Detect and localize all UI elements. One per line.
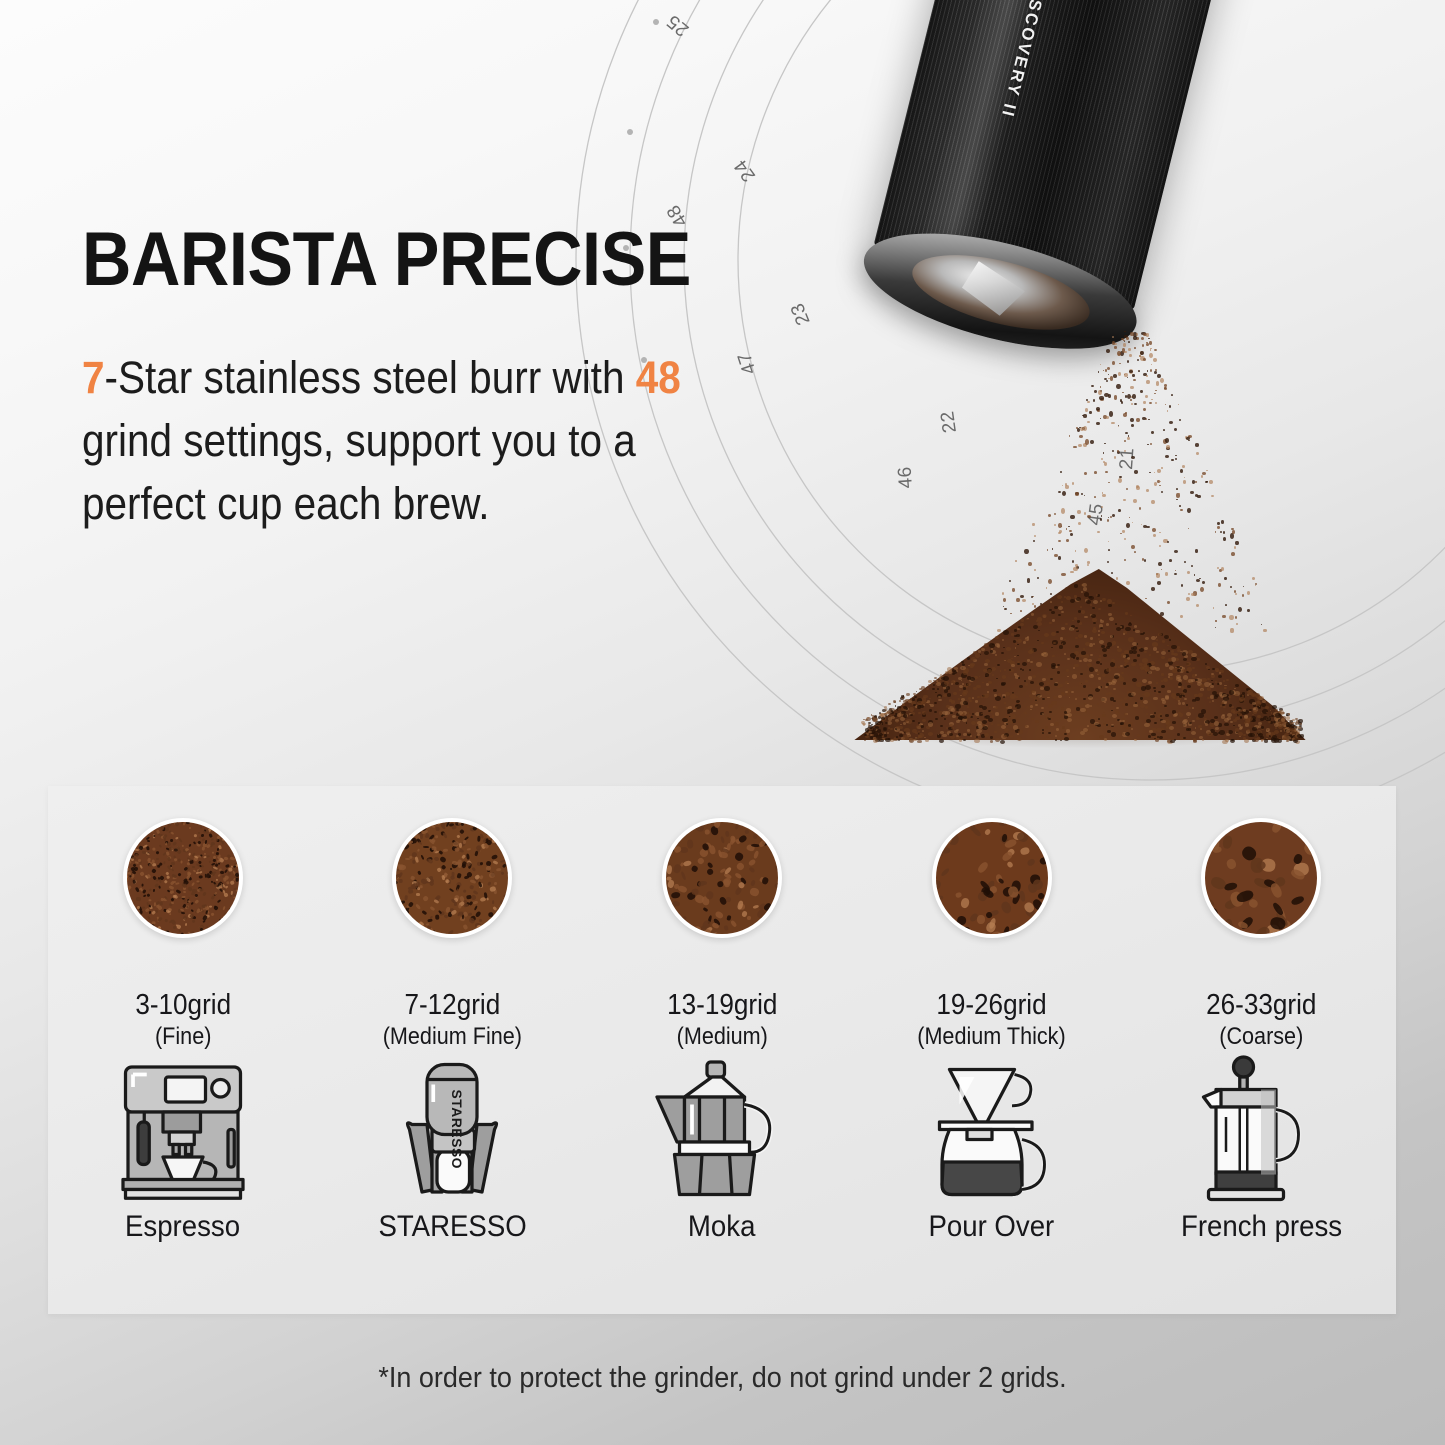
svg-text:25: 25 (663, 10, 693, 40)
pile-mound (845, 550, 1315, 740)
grind-swatch-column-4 (1126, 818, 1396, 938)
grind-labels-0: 3-10grid (Fine) (130, 988, 236, 1051)
svg-text:24: 24 (730, 155, 760, 185)
grind-column-1: 7-12grid (Medium Fine) (318, 966, 588, 1051)
grind-range-3: 19-26grid (917, 988, 1065, 1022)
grind-range-2: 13-19grid (667, 988, 777, 1022)
grind-swatch-0 (123, 818, 243, 938)
grind-swatch-column-2 (587, 818, 857, 938)
device-label-staresso: STARESSO (378, 1210, 526, 1244)
brew-device-row: Espresso STARESSO (48, 1052, 1396, 1244)
brew-column-frenchpress: French press (1126, 1052, 1396, 1244)
grind-column-4: 26-33grid (Coarse) (1126, 966, 1396, 1051)
grind-labels-2: 13-19grid (Medium) (661, 988, 784, 1051)
grind-range-4: 26-33grid (1206, 988, 1316, 1022)
brew-column-staresso: STARESSO STARESSO (318, 1052, 588, 1244)
pour-over-icon (917, 1052, 1067, 1202)
grind-swatch-row (48, 818, 1396, 938)
device-label-pourover: Pour Over (929, 1210, 1055, 1244)
coffee-grinder-product: DISCOVERY II (801, 0, 1354, 475)
grind-column-3: 19-26grid (Medium Thick) (857, 966, 1127, 1051)
grind-labels-4: 26-33grid (Coarse) (1200, 988, 1323, 1051)
grind-coarseness-1: (Medium Fine) (383, 1022, 522, 1051)
moka-pot-icon (647, 1052, 797, 1202)
grind-column-2: 13-19grid (Medium) (587, 966, 857, 1051)
grind-swatch-column-3 (857, 818, 1127, 938)
footnote-disclaimer: *In order to protect the grinder, do not… (51, 1362, 1395, 1395)
grind-range-1: 7-12grid (383, 988, 522, 1022)
subcopy-part-2: grind settings, support you to a perfect… (82, 415, 636, 529)
ground-coffee-pile (845, 520, 1315, 740)
product-infographic: 27 26 25 48 47 46 45 03 02 01 24 23 22 2… (0, 0, 1445, 1445)
subcopy-paragraph: 7-Star stainless steel burr with 48 grin… (82, 346, 703, 535)
device-label-espresso: Espresso (125, 1210, 240, 1244)
grind-swatch-column-0 (48, 818, 318, 938)
staresso-brand-text: STARESSO (449, 1090, 464, 1170)
grind-swatch-3 (932, 818, 1052, 938)
svg-text:23: 23 (787, 300, 815, 328)
grind-coarseness-4: (Coarse) (1206, 1022, 1316, 1051)
french-press-icon (1186, 1052, 1336, 1202)
device-label-frenchpress: French press (1181, 1210, 1342, 1244)
accent-seven: 7 (82, 352, 105, 403)
brew-column-espresso: Espresso (48, 1052, 318, 1244)
headline-block: BARISTA PRECISE 7-Star stainless steel b… (82, 222, 782, 535)
brew-column-pourover: Pour Over (857, 1052, 1127, 1244)
grind-swatch-2 (662, 818, 782, 938)
page-title: BARISTA PRECISE (82, 222, 712, 298)
staresso-maker-icon: STARESSO (377, 1052, 527, 1202)
grind-labels-3: 19-26grid (Medium Thick) (909, 988, 1074, 1051)
svg-text:22: 22 (937, 410, 961, 435)
subcopy-part-1: -Star stainless steel burr with (105, 352, 636, 403)
grind-swatch-1 (392, 818, 512, 938)
grind-label-row: 3-10grid (Fine) 7-12grid (Medium Fine) 1… (48, 966, 1396, 1051)
grind-labels-1: 7-12grid (Medium Fine) (375, 988, 530, 1051)
device-label-moka: Moka (688, 1210, 755, 1244)
grind-coarseness-2: (Medium) (667, 1022, 777, 1051)
grind-size-panel: 3-10grid (Fine) 7-12grid (Medium Fine) 1… (48, 786, 1396, 1314)
grind-swatch-4 (1201, 818, 1321, 938)
espresso-machine-icon (108, 1052, 258, 1202)
grind-range-0: 3-10grid (135, 988, 231, 1022)
grind-coarseness-3: (Medium Thick) (917, 1022, 1065, 1051)
grind-column-0: 3-10grid (Fine) (48, 966, 318, 1051)
brew-column-moka: Moka (587, 1052, 857, 1244)
accent-fortyeight: 48 (636, 352, 681, 403)
grind-coarseness-0: (Fine) (135, 1022, 231, 1051)
svg-text:46: 46 (895, 466, 917, 489)
svg-text:01: 01 (735, 0, 765, 1)
grind-swatch-column-1 (318, 818, 588, 938)
